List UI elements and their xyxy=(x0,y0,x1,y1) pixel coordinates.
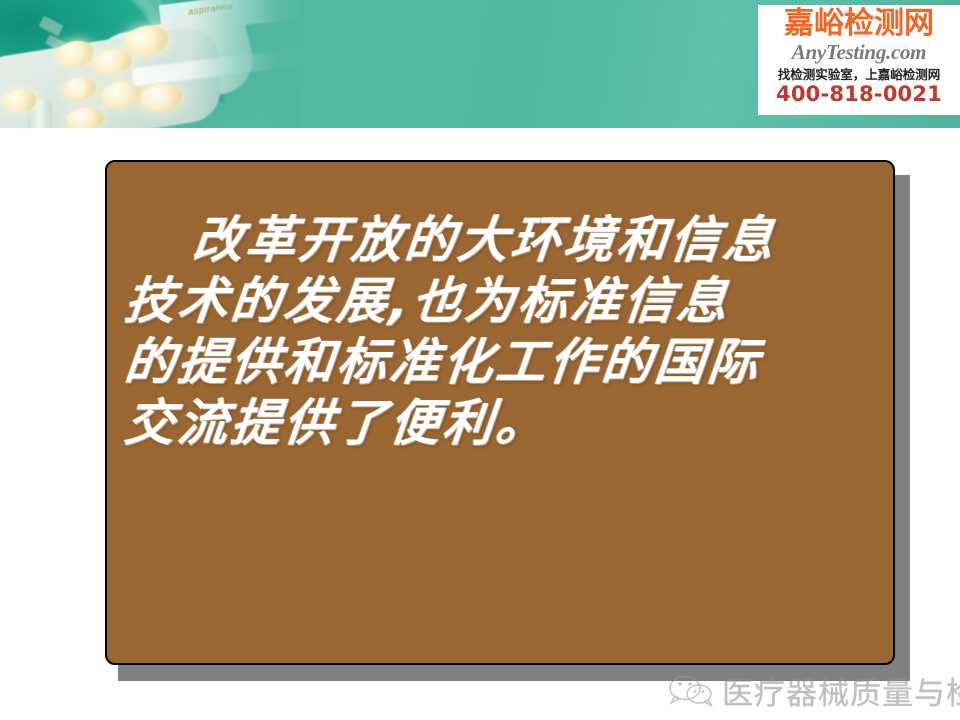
logo-phone-number: 400-818-0021 xyxy=(776,83,942,106)
content-line-4: 交流提供了便利。 xyxy=(112,393,888,454)
watermark-label: 医疗器械质量与检测 xyxy=(722,668,960,713)
logo-tagline: 找检测实验室，上嘉峪检测网 xyxy=(778,67,941,82)
presentation-slide: aspirateur 嘉峪检测网 AnyTesting.com 找检测实验室，上… xyxy=(0,0,960,720)
content-line-1: 改革开放的大环境和信息 xyxy=(112,210,888,271)
header-banner: aspirateur 嘉峪检测网 AnyTesting.com 找检测实验室，上… xyxy=(0,0,960,128)
logo-english-name: AnyTesting.com xyxy=(792,41,926,64)
bottom-watermark: 医疗器械质量与检测 xyxy=(668,668,960,713)
surgical-lamp-photo: aspirateur xyxy=(0,0,300,128)
content-text-block: 改革开放的大环境和信息 技术的发展,也为标准信息 的提供和标准化工作的国际 交流… xyxy=(115,210,885,454)
logo-chinese-name: 嘉峪检测网 xyxy=(784,9,934,40)
content-line-2: 技术的发展,也为标准信息 xyxy=(112,271,888,332)
content-line-3: 的提供和标准化工作的国际 xyxy=(112,332,888,393)
anytesting-logo-card[interactable]: 嘉峪检测网 AnyTesting.com 找检测实验室，上嘉峪检测网 400-8… xyxy=(758,5,960,115)
wechat-icon xyxy=(668,674,714,708)
content-box: 改革开放的大环境和信息 技术的发展,也为标准信息 的提供和标准化工作的国际 交流… xyxy=(105,160,895,665)
photo-right-fade xyxy=(190,0,300,128)
